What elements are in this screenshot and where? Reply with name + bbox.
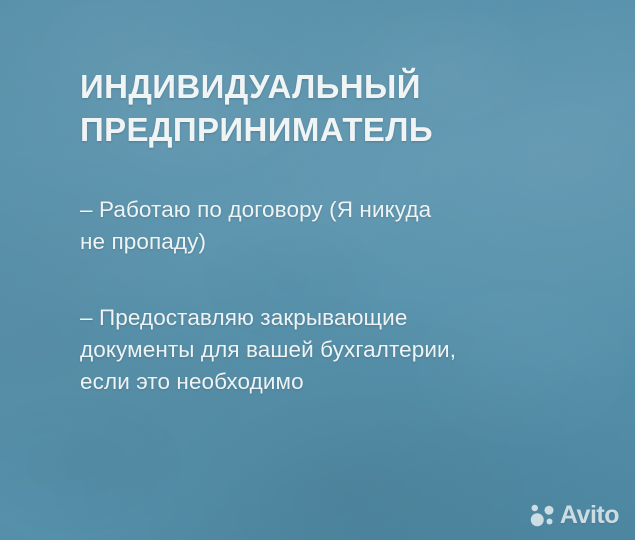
text-content-block: ИНДИВИДУАЛЬНЫЙ ПРЕДПРИНИМАТЕЛЬ – Работаю…	[80, 66, 591, 397]
benefit-item-contract: – Работаю по договору (Я никуда не пропа…	[80, 194, 591, 258]
page-title: ИНДИВИДУАЛЬНЫЙ ПРЕДПРИНИМАТЕЛЬ	[80, 66, 591, 152]
avito-dots-icon	[530, 504, 555, 527]
listing-image-slide: ИНДИВИДУАЛЬНЫЙ ПРЕДПРИНИМАТЕЛЬ – Работаю…	[0, 0, 635, 540]
benefit-item-documents: – Предоставляю закрывающие документы для…	[80, 302, 591, 398]
page-title-line-2: ПРЕДПРИНИМАТЕЛЬ	[80, 109, 591, 152]
page-title-line-1: ИНДИВИДУАЛЬНЫЙ	[80, 66, 591, 109]
avito-watermark: Avito	[530, 503, 619, 528]
benefits-list: – Работаю по договору (Я никуда не пропа…	[80, 194, 591, 398]
avito-wordmark: Avito	[560, 503, 619, 528]
